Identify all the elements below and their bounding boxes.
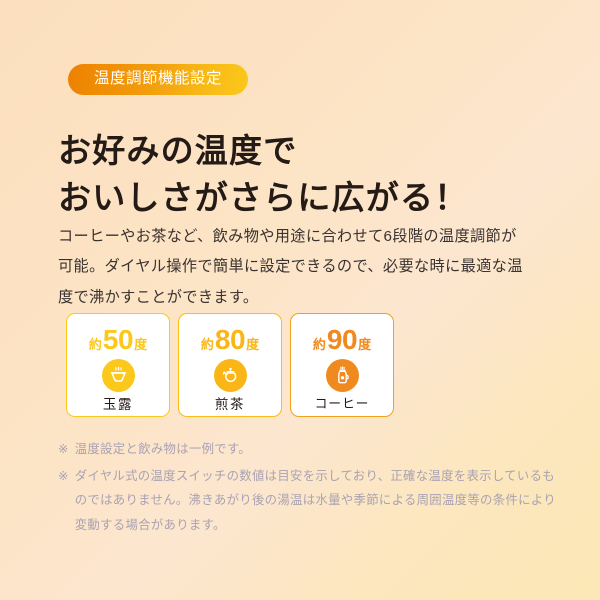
teapot-icon: [214, 359, 247, 392]
footnote-line: 変動する場合があります。: [75, 513, 568, 537]
temperature-prefix: 約: [313, 338, 326, 351]
asterisk-icon: ※: [58, 437, 75, 461]
temperature-unit: 度: [134, 338, 147, 351]
footnote-text: 温度設定と飲み物は一例です。: [75, 437, 568, 461]
temperature-value-group: 約 50 度: [89, 326, 147, 354]
headline-line-1: お好みの温度で: [58, 128, 468, 175]
temperature-card: 約 80 度 煎茶: [178, 313, 282, 417]
footnote-list: ※ 温度設定と飲み物は一例です。 ※ ダイヤル式の温度スイッチの数値は目安を示し…: [58, 437, 568, 540]
footnote-text: ダイヤル式の温度スイッチの数値は目安を示しており、正確な温度を表示しているも の…: [75, 464, 568, 537]
footnote-line: 温度設定と飲み物は一例です。: [75, 437, 568, 461]
footnote-line: のではありません。沸きあがり後の湯温は水量や季節による周囲温度等の条件により: [75, 488, 568, 512]
temperature-number: 50: [102, 326, 134, 354]
body-line-3: 度で沸かすことができます。: [58, 283, 562, 313]
temperature-card-list: 約 50 度 玉露 約 80: [66, 313, 394, 417]
temperature-number: 90: [326, 326, 358, 354]
promo-page: 温度調節機能設定 お好みの温度で おいしさがさらに広がる！ コーヒーやお茶など、…: [0, 0, 600, 600]
temperature-card: 約 50 度 玉露: [66, 313, 170, 417]
temperature-value-group: 約 90 度: [313, 326, 371, 354]
card-label: 玉露: [103, 398, 133, 412]
card-label: 煎茶: [215, 398, 245, 412]
temperature-card: 約 90 度 コーヒー: [290, 313, 394, 417]
headline-line-2: おいしさがさらに広がる！: [58, 175, 468, 222]
footnote-line: ダイヤル式の温度スイッチの数値は目安を示しており、正確な温度を表示しているも: [75, 464, 568, 488]
coffee-server-icon: [326, 359, 359, 392]
badge-container: 温度調節機能設定: [68, 64, 248, 95]
body-copy: コーヒーやお茶など、飲み物や用途に合わせて6段階の温度調節が 可能。ダイヤル操作…: [58, 222, 562, 313]
asterisk-icon: ※: [58, 464, 75, 537]
page-title: お好みの温度で おいしさがさらに広がる！: [58, 128, 468, 222]
footnote-item: ※ 温度設定と飲み物は一例です。: [58, 437, 568, 461]
temperature-unit: 度: [246, 338, 259, 351]
temperature-prefix: 約: [201, 338, 214, 351]
teacup-icon: [102, 359, 135, 392]
temperature-unit: 度: [358, 338, 371, 351]
temperature-value-group: 約 80 度: [201, 326, 259, 354]
body-line-1: コーヒーやお茶など、飲み物や用途に合わせて6段階の温度調節が: [58, 222, 562, 252]
temperature-number: 80: [214, 326, 246, 354]
footnote-item: ※ ダイヤル式の温度スイッチの数値は目安を示しており、正確な温度を表示しているも…: [58, 464, 568, 537]
section-badge: 温度調節機能設定: [68, 64, 248, 95]
body-line-2: 可能。ダイヤル操作で簡単に設定できるので、必要な時に最適な温: [58, 252, 562, 282]
card-label: コーヒー: [315, 398, 370, 411]
temperature-prefix: 約: [89, 338, 102, 351]
